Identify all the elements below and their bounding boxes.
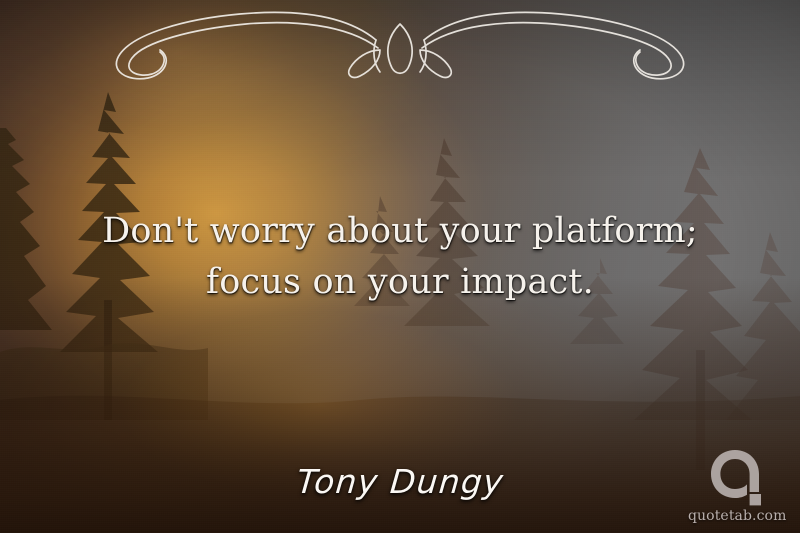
quote-image-card: Don't worry about your platform; focus o… <box>0 0 800 533</box>
watermark-site-label[interactable]: quotetab.com <box>688 508 786 524</box>
flourish-divider-icon <box>80 6 720 90</box>
quote-block: Don't worry about your platform; focus o… <box>60 206 740 308</box>
quotetab-q-logo-icon[interactable] <box>709 448 765 506</box>
author-block: Tony Dungy <box>0 462 800 502</box>
watermark[interactable]: quotetab.com <box>688 448 786 524</box>
author-name: Tony Dungy <box>295 462 505 502</box>
quote-text: Don't worry about your platform; focus o… <box>60 206 740 308</box>
